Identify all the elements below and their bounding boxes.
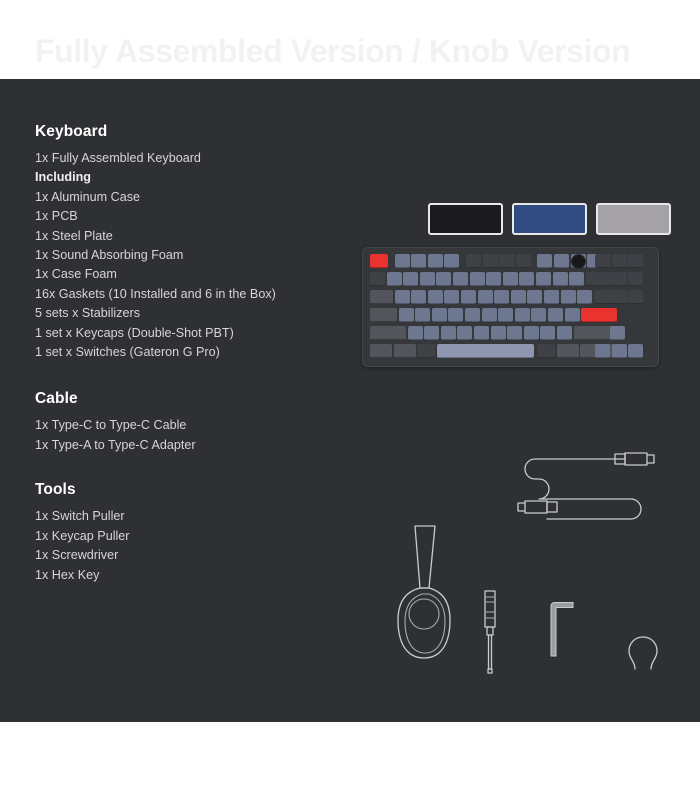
list-item: 1 set x Keycaps (Double-Shot PBT) (35, 324, 365, 343)
list-item: 1x Aluminum Case (35, 188, 365, 207)
list-item: 1 set x Switches (Gateron G Pro) (35, 343, 365, 362)
keyboard-keys (370, 254, 651, 360)
section-keyboard: Keyboard 1x Fully Assembled Keyboard Inc… (35, 123, 365, 362)
color-swatch-group (428, 203, 671, 235)
switch-puller-illustration (393, 522, 455, 662)
contents-list: Keyboard 1x Fully Assembled Keyboard Inc… (35, 123, 365, 585)
usb-c-cable-illustration (505, 443, 665, 528)
section-heading-cable: Cable (35, 390, 365, 408)
section-tools: Tools 1x Switch Puller 1x Keycap Puller … (35, 481, 365, 585)
list-item: 1x Keycap Puller (35, 527, 365, 546)
list-item: 1x Case Foam (35, 265, 365, 284)
list-item: 1x Sound Absorbing Foam (35, 246, 365, 265)
list-item: 16x Gaskets (10 Installed and 6 in the B… (35, 285, 365, 304)
keyboard-product-image (362, 247, 659, 367)
hex-key-illustration (548, 598, 576, 660)
section-heading-tools: Tools (35, 481, 365, 499)
screwdriver-illustration (476, 588, 504, 676)
list-item: 1x Switch Puller (35, 507, 365, 526)
list-item: Including (35, 168, 365, 187)
list-item: 1x Fully Assembled Keyboard (35, 149, 365, 168)
page-title: Fully Assembled Version / Knob Version (35, 33, 630, 70)
list-item: 1x PCB (35, 207, 365, 226)
keycap-puller-illustration (625, 625, 661, 671)
list-item: 1x Type-C to Type-C Cable (35, 416, 365, 435)
list-item: 1x Steel Plate (35, 227, 365, 246)
color-swatch-carbon-black[interactable] (428, 203, 503, 235)
color-swatch-silver-grey[interactable] (596, 203, 671, 235)
section-cable: Cable 1x Type-C to Type-C Cable 1x Type-… (35, 390, 365, 455)
section-heading-keyboard: Keyboard (35, 123, 365, 141)
list-item: 1x Type-A to Type-C Adapter (35, 436, 365, 455)
list-item: 5 sets x Stabilizers (35, 304, 365, 323)
list-item: 1x Screwdriver (35, 546, 365, 565)
rotary-encoder-knob[interactable] (571, 254, 586, 269)
color-swatch-navy-blue[interactable] (512, 203, 587, 235)
list-item: 1x Hex Key (35, 566, 365, 585)
